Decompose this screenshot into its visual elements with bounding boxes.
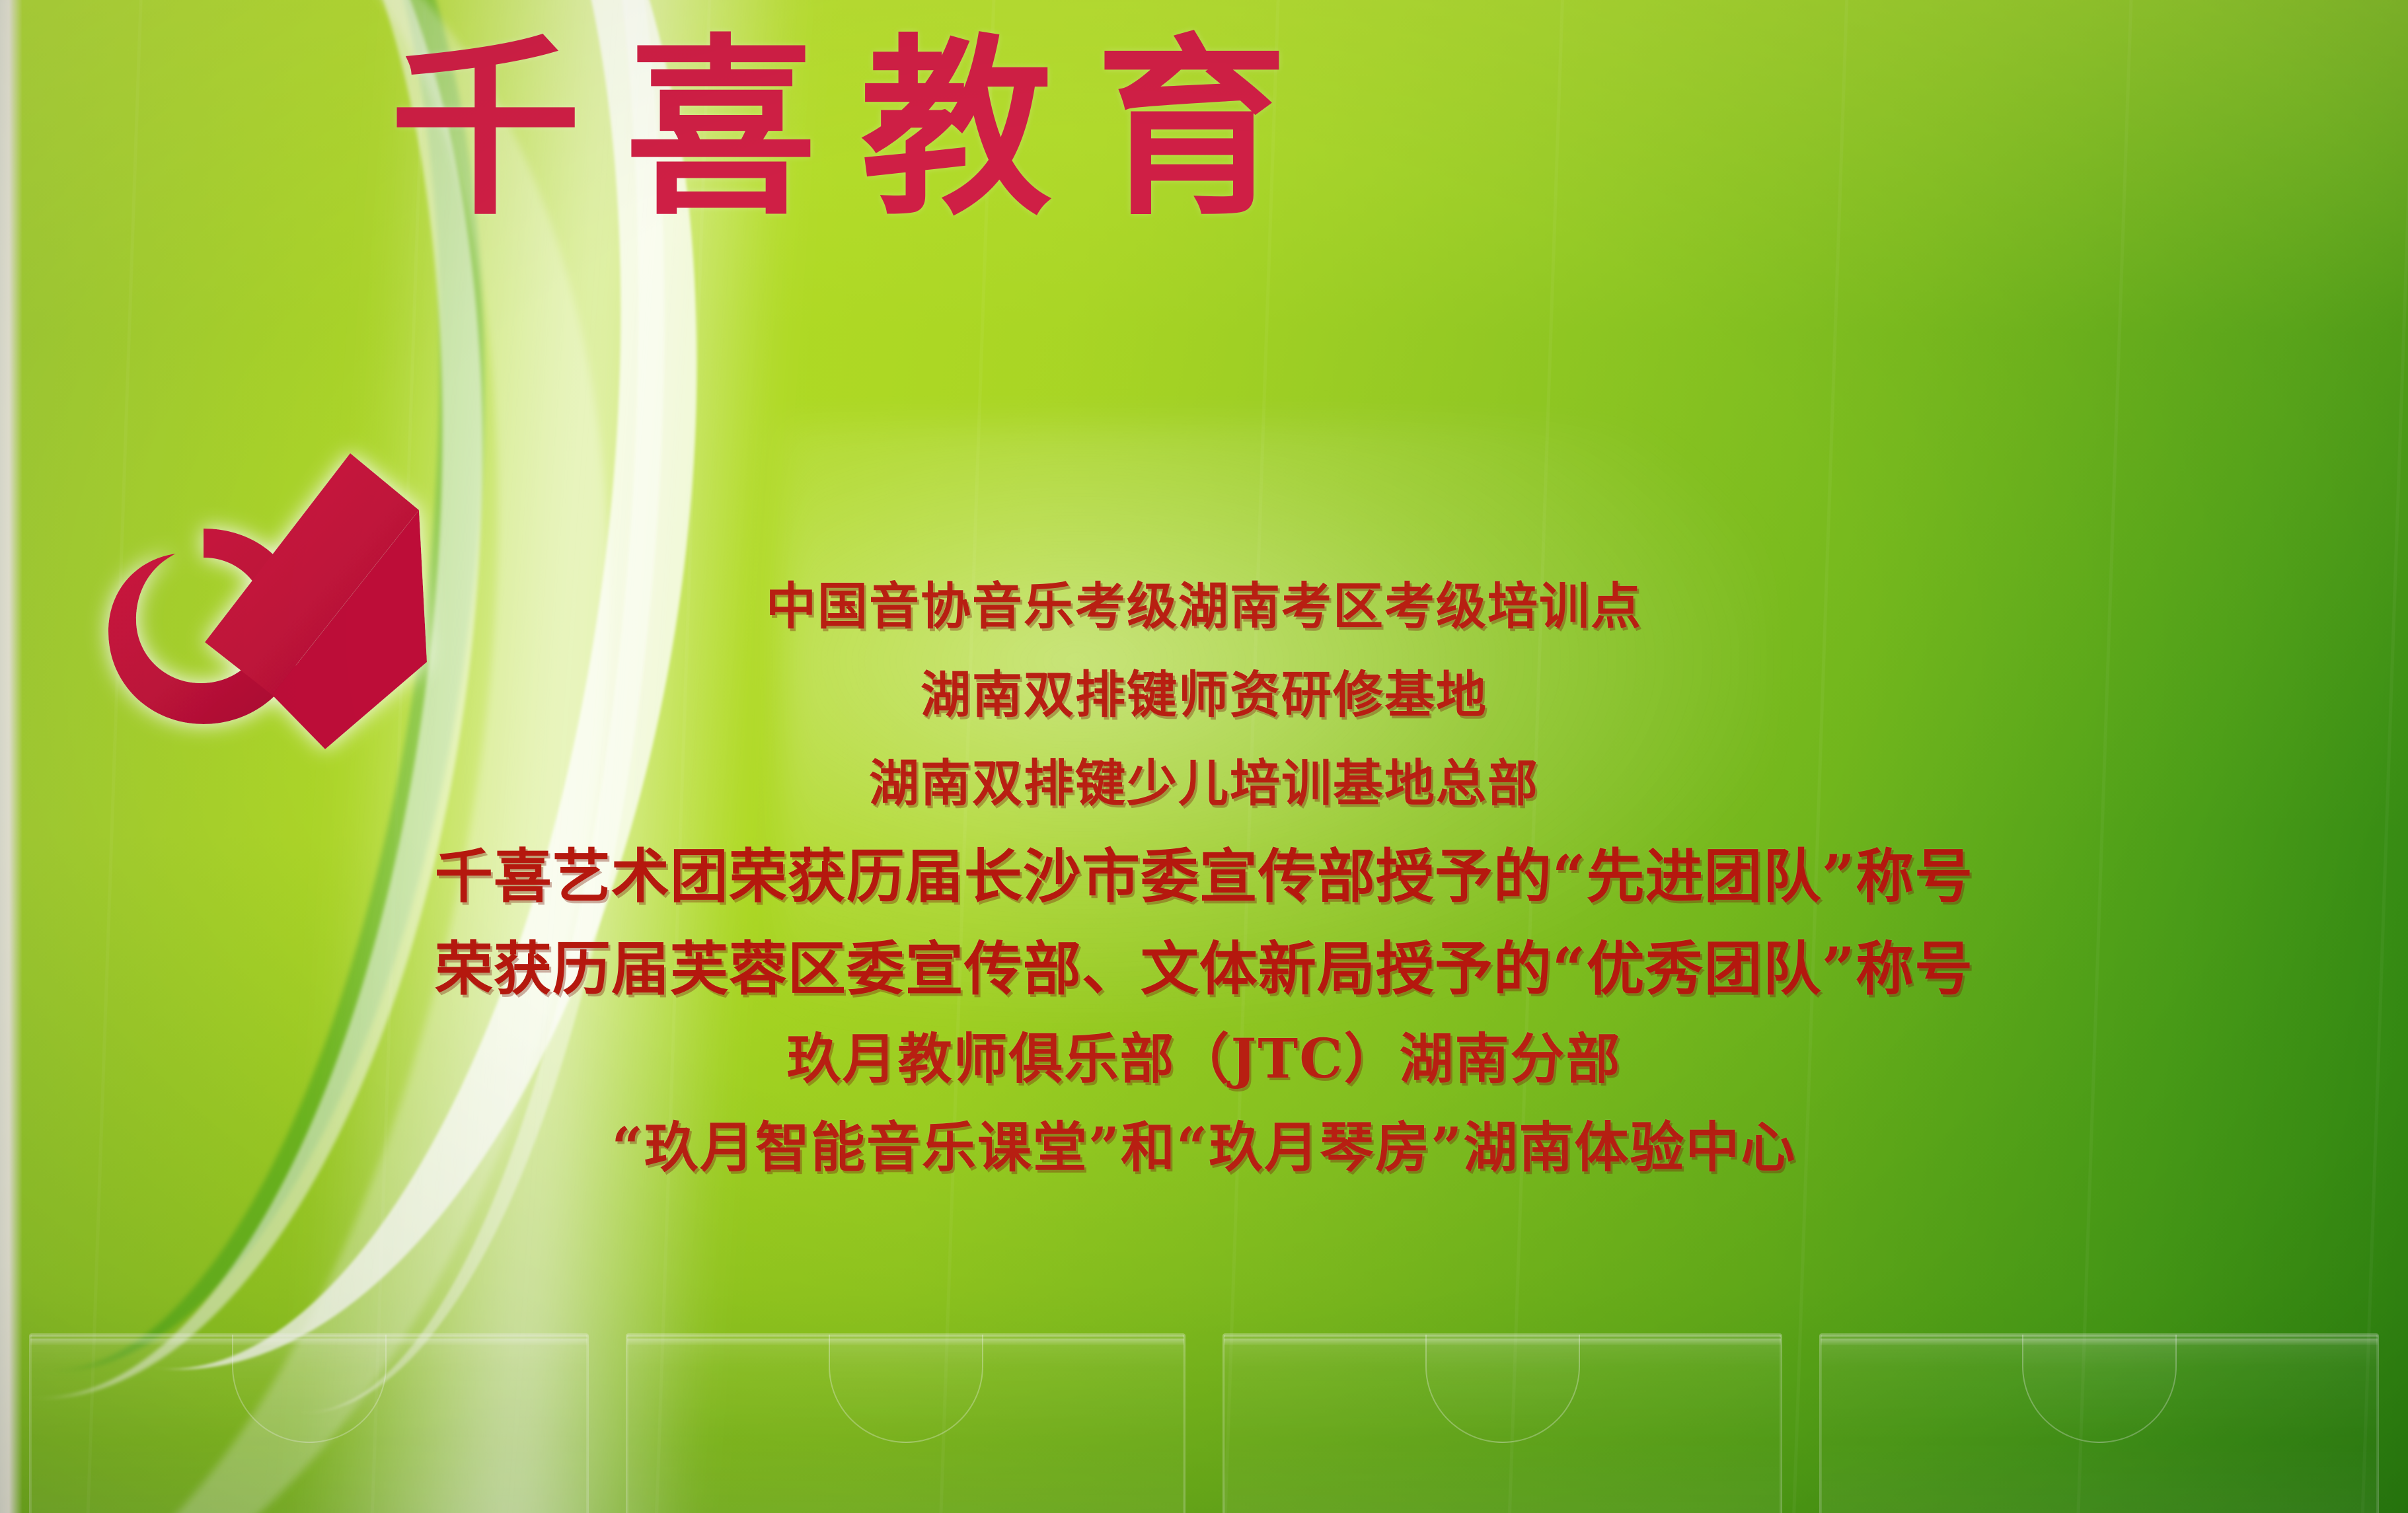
holder-thumb-notch (829, 1333, 983, 1443)
credential-line: 湖南双排键少儿培训基地总部 (869, 758, 1539, 809)
page-title: 千 喜 教 育 (390, 20, 2082, 238)
brochure-holder[interactable] (626, 1333, 1185, 1513)
credential-line: 中国音协音乐考级湖南考区考级培训点 (766, 581, 1642, 632)
holder-thumb-notch (1425, 1333, 1580, 1443)
credential-line: 荣获历届芙蓉区委宣传部、文体新局授予的“优秀团队”称号 (435, 940, 1973, 998)
credential-line: 千喜艺术团荣获历届长沙市委宣传部授予的“先进团队”称号 (435, 847, 1973, 905)
headline-char-3: 教 (860, 33, 1052, 225)
credential-line: 湖南双排键师资研修基地 (921, 670, 1487, 720)
headline-char-4: 育 (1096, 33, 1287, 225)
credential-line: “玖月智能音乐课堂”和“玖月琴房”湖南体验中心 (612, 1121, 1797, 1175)
signage-wall-panel: 千 喜 教 育 中国音协音乐考级湖南考区考级培训点 湖南双排键师资研修基地 湖南… (0, 0, 2408, 1513)
headline-char-1: 千 (390, 33, 582, 225)
credential-line: 玖月教师俱乐部（JTC）湖南分部 (786, 1032, 1621, 1086)
brochure-holder-row (0, 1315, 2408, 1513)
brochure-holder[interactable] (1223, 1333, 1782, 1513)
holder-thumb-notch (232, 1333, 387, 1443)
brochure-holder[interactable] (1819, 1333, 2379, 1513)
headline-char-2: 喜 (625, 33, 817, 225)
brochure-holder[interactable] (29, 1333, 589, 1513)
holder-thumb-notch (2022, 1333, 2177, 1443)
credentials-list: 中国音协音乐考级湖南考区考级培训点 湖南双排键师资研修基地 湖南双排键少儿培训基… (0, 581, 2408, 1175)
